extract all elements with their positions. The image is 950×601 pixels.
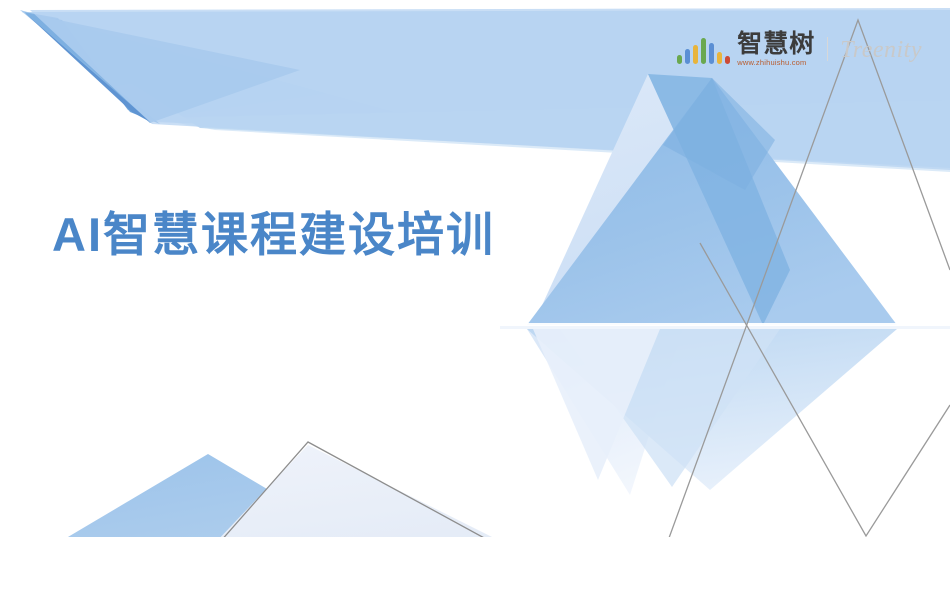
logo-english-name: Treenity [840,37,922,67]
background-decoration [0,0,950,601]
bar-6 [717,52,722,64]
bar-2 [685,49,690,64]
logo-website-url: www.zhihuishu.com [737,59,806,67]
logo-wordmark: 智慧树 www.zhihuishu.com [737,32,815,67]
bar-4 [701,38,706,64]
page-title: AI智慧课程建设培训 [52,207,495,262]
brand-logo: 智慧树 www.zhihuishu.com Treenity [677,32,922,67]
logo-bar-chart-icon [677,38,730,67]
bar-1 [677,55,682,64]
title-block: AI智慧课程建设培训 [52,207,495,262]
bar-7 [725,56,730,64]
logo-chinese-name: 智慧树 [737,32,815,57]
slide-canvas: AI智慧课程建设培训 智慧树 www.zhihuishu.com Treenit… [0,0,950,601]
bar-3 [693,45,698,64]
bar-5 [709,43,714,64]
horizontal-highlight-line-soft [500,326,950,329]
logo-divider [827,37,828,61]
bottom-white-mask [0,537,950,601]
